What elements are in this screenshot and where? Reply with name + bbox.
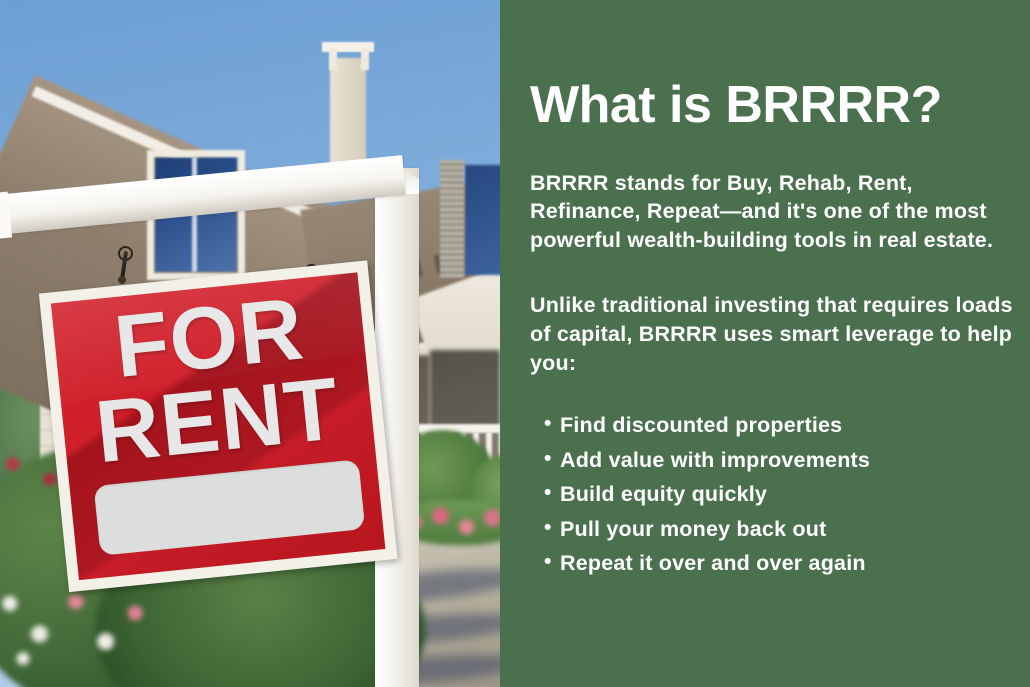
sign-text-line-2: RENT (60, 365, 375, 477)
chimney-post-right (361, 48, 369, 70)
sign-face: FOR RENT (51, 272, 386, 580)
list-item: Build equity quickly (530, 480, 1014, 508)
window-shutter (440, 160, 464, 278)
sign-text: FOR RENT (52, 282, 375, 476)
house-photo: FOR RENT (0, 0, 500, 687)
benefits-list: Find discounted properties Add value wit… (530, 411, 1014, 577)
infographic-canvas: FOR RENT What is BRRRR? BRRRR stands for… (0, 0, 1030, 687)
intro-paragraph: BRRRR stands for Buy, Rehab, Rent, Refin… (530, 169, 1014, 255)
list-item: Repeat it over and over again (530, 549, 1014, 577)
content-panel-inner: What is BRRRR? BRRRR stands for Buy, Reh… (530, 0, 1014, 583)
sign-hook-eyelet-icon (118, 276, 126, 284)
page-title: What is BRRRR? (530, 0, 1014, 133)
leverage-paragraph: Unlike traditional investing that requir… (530, 291, 1014, 377)
for-rent-sign: FOR RENT (39, 260, 398, 592)
list-item: Add value with improvements (530, 446, 1014, 474)
content-panel: What is BRRRR? BRRRR stands for Buy, Reh… (500, 0, 1030, 687)
chimney (330, 58, 366, 168)
chimney-post-left (329, 48, 337, 70)
right-window-glass (465, 165, 500, 275)
list-item: Pull your money back out (530, 515, 1014, 543)
list-item: Find discounted properties (530, 411, 1014, 439)
